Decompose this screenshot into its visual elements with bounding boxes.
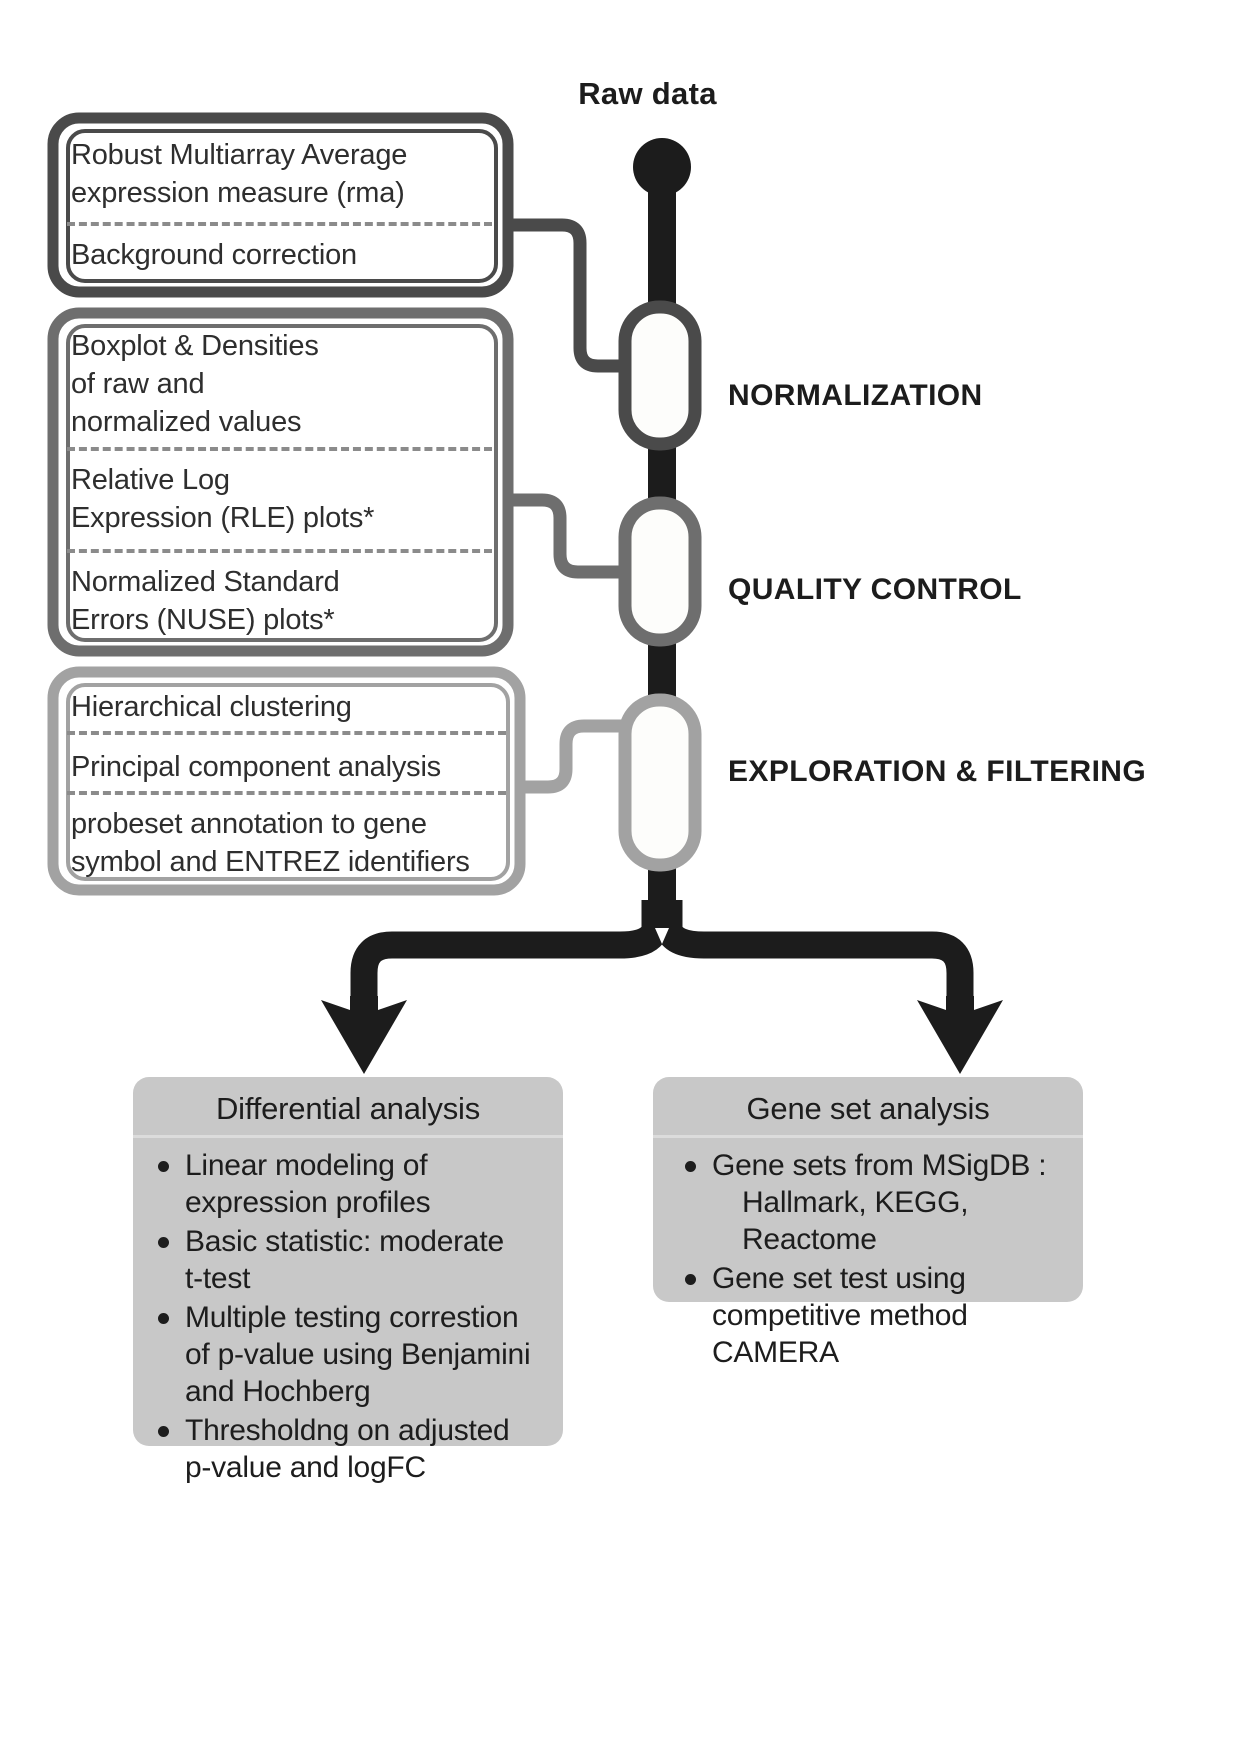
stage-node-normalization xyxy=(625,307,695,444)
panel-bullet-list: Linear modeling of expression profiles B… xyxy=(151,1147,555,1486)
stage-box-exploration-filtering-text: Hierarchical clustering Principal compon… xyxy=(53,672,520,890)
stage-node-quality-control xyxy=(625,503,695,640)
item-separator xyxy=(67,222,492,226)
stage-item: probeset annotation to gene symbol and E… xyxy=(71,805,510,881)
bullet-icon xyxy=(158,1161,169,1172)
output-panel-gene-set-analysis: Gene set analysis Gene sets from MSigDB … xyxy=(653,1077,1083,1302)
bullet-icon xyxy=(685,1274,696,1285)
stage-item: Boxplot & Densities of raw and normalize… xyxy=(71,327,498,441)
list-item: Linear modeling of expression profiles xyxy=(151,1147,555,1221)
stage-item: Principal component analysis xyxy=(71,748,510,786)
panel-bullet-list: Gene sets from MSigDB : Hallmark, KEGG, … xyxy=(671,1147,1075,1371)
stage-item: Robust Multiarray Average expression mea… xyxy=(71,136,498,212)
stage-caption-exploration-filtering: EXPLORATION & FILTERING xyxy=(728,753,1146,790)
fork-arrows xyxy=(321,900,1003,1074)
list-item: Multiple testing correstion of p-value u… xyxy=(151,1299,555,1410)
connector-normalization xyxy=(508,225,628,366)
item-separator xyxy=(67,549,492,553)
item-separator xyxy=(67,791,506,795)
connector-quality-control xyxy=(508,500,628,572)
stage-node-exploration-filtering xyxy=(625,700,695,865)
stage-item: Normalized Standard Errors (NUSE) plots* xyxy=(71,563,498,639)
item-separator xyxy=(67,731,506,735)
bullet-icon xyxy=(685,1161,696,1172)
list-item: Thresholdng on adjusted p-value and logF… xyxy=(151,1412,555,1486)
connector-exploration-filtering xyxy=(520,726,628,787)
bullet-icon xyxy=(158,1426,169,1437)
panel-title: Gene set analysis xyxy=(653,1089,1083,1129)
output-panel-differential-analysis: Differential analysis Linear modeling of… xyxy=(133,1077,563,1446)
raw-data-label: Raw data xyxy=(0,76,1240,112)
stage-item: Background correction xyxy=(71,236,498,274)
workflow-diagram: Raw data Robust Multiarray Average expre… xyxy=(0,0,1240,1753)
stage-caption-normalization: NORMALIZATION xyxy=(728,377,983,414)
stage-item: Relative Log Expression (RLE) plots* xyxy=(71,461,498,537)
list-item: Basic statistic: moderate t-test xyxy=(151,1223,555,1297)
bullet-icon xyxy=(158,1313,169,1324)
stage-box-quality-control-text: Boxplot & Densities of raw and normalize… xyxy=(53,313,508,651)
panel-title: Differential analysis xyxy=(133,1089,563,1129)
stage-caption-quality-control: QUALITY CONTROL xyxy=(728,571,1022,608)
list-item: Gene set test using competitive method C… xyxy=(671,1260,1075,1371)
item-separator xyxy=(67,447,492,451)
panel-divider xyxy=(653,1135,1083,1138)
stage-item: Hierarchical clustering xyxy=(71,688,510,726)
stage-box-normalization-text: Robust Multiarray Average expression mea… xyxy=(53,118,508,292)
list-item: Gene sets from MSigDB : Hallmark, KEGG, … xyxy=(671,1147,1075,1258)
panel-divider xyxy=(133,1135,563,1138)
bullet-icon xyxy=(158,1237,169,1248)
